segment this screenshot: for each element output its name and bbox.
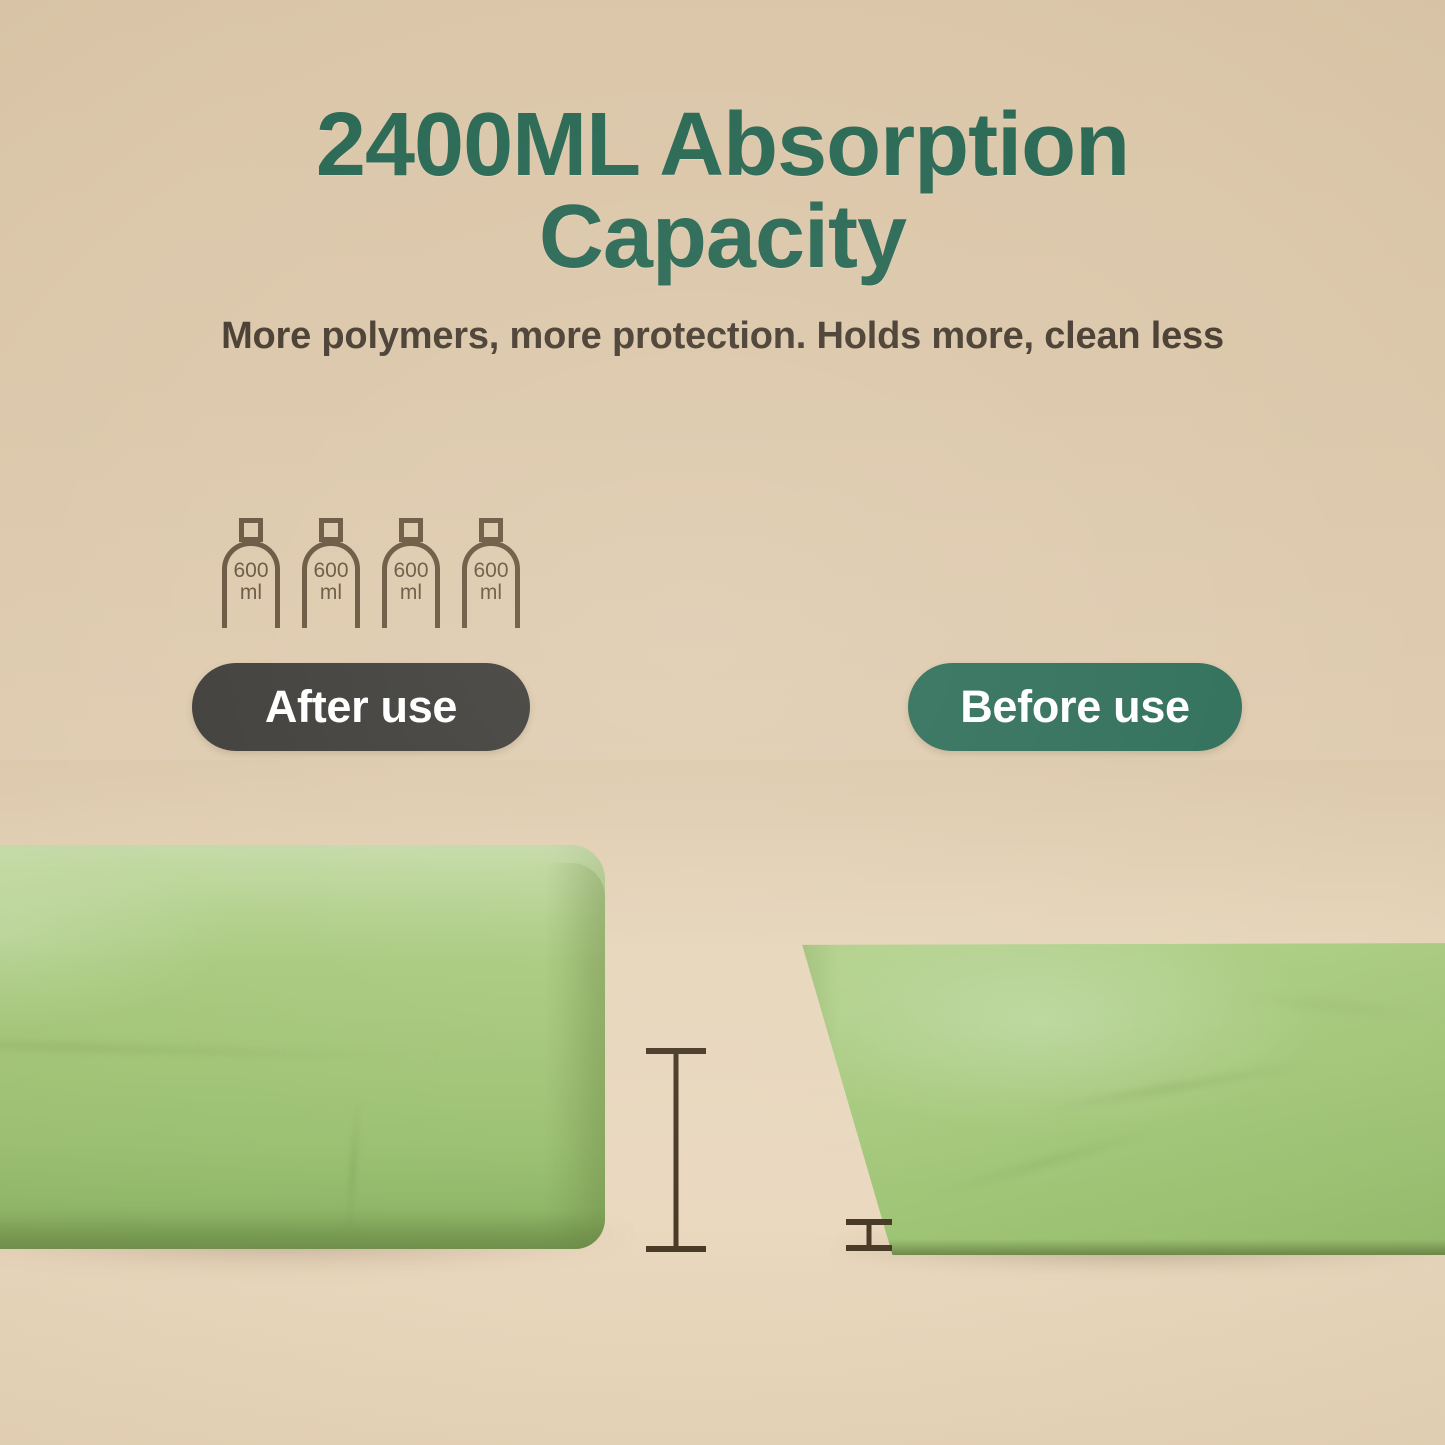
pad-after-use-right-edge: [545, 863, 605, 1249]
bottle-label: 600 ml: [302, 560, 360, 604]
bottle-icon: 600 ml: [462, 518, 520, 628]
bottle-amount: 600: [462, 560, 520, 582]
bottle-unit: ml: [222, 582, 280, 604]
product-pad-before-use: [798, 943, 1445, 1255]
bottle-icon: 600 ml: [382, 518, 440, 628]
absorption-bottle-group: 600 ml 600 ml 600 ml 600 ml: [222, 518, 520, 628]
bottle-label: 600 ml: [222, 560, 280, 604]
bottle-cap-icon: [319, 518, 343, 542]
bottle-amount: 600: [302, 560, 360, 582]
marker-tick-bottom: [646, 1246, 706, 1252]
bottle-amount: 600: [382, 560, 440, 582]
bottle-label: 600 ml: [462, 560, 520, 604]
headline-line-1: 2400ML Absorption: [316, 95, 1129, 195]
page-subtitle: More polymers, more protection. Holds mo…: [0, 315, 1445, 358]
pad-before-use-crease: [922, 1122, 1174, 1200]
bottle-cap-icon: [399, 518, 423, 542]
pad-after-use-crease: [0, 1037, 440, 1061]
page-title: 2400ML Absorption Capacity: [0, 100, 1445, 284]
headline-line-2: Capacity: [120, 192, 1325, 284]
bottle-label: 600 ml: [382, 560, 440, 604]
product-feature-poster: 2400ML Absorption Capacity More polymers…: [0, 0, 1445, 1445]
pad-before-use-crease: [1030, 1057, 1327, 1117]
pad-after-use-top-face: [0, 845, 605, 965]
pad-before-use-bottom-edge: [798, 1239, 1445, 1255]
bottle-icon: 600 ml: [302, 518, 360, 628]
thickness-marker-after: [646, 1048, 706, 1252]
bottle-unit: ml: [382, 582, 440, 604]
bottle-cap-icon: [479, 518, 503, 542]
marker-stem: [674, 1048, 679, 1252]
bottle-icon: 600 ml: [222, 518, 280, 628]
product-pad-after-use: [0, 845, 605, 1249]
pad-before-use-crease: [1228, 992, 1445, 1022]
marker-tick-bottom: [846, 1245, 892, 1251]
bottle-cap-icon: [239, 518, 263, 542]
bottle-amount: 600: [222, 560, 280, 582]
bottle-unit: ml: [462, 582, 520, 604]
pad-after-use-base-shading: [0, 1209, 605, 1249]
badge-after-use: After use: [192, 663, 530, 751]
bottle-unit: ml: [302, 582, 360, 604]
badge-before-use: Before use: [908, 663, 1242, 751]
thickness-marker-before: [846, 1219, 892, 1251]
